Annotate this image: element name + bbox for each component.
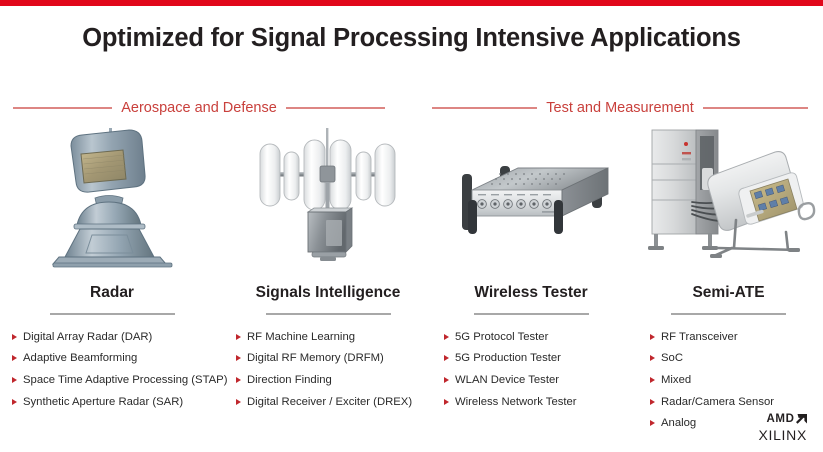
- list-item-label: Direction Finding: [247, 374, 332, 387]
- list-item: Digital RF Memory (DRFM): [236, 348, 434, 370]
- list-item: WLAN Device Tester: [444, 370, 626, 392]
- column-title-rule: [474, 313, 589, 315]
- feature-list-wireless-tester: 5G Protocol Tester 5G Production Tester …: [444, 327, 626, 413]
- list-item: Wireless Network Tester: [444, 391, 626, 413]
- list-item: Direction Finding: [236, 370, 434, 392]
- list-item-label: Digital Receiver / Exciter (DREX): [247, 396, 412, 409]
- category-column-semi-ate: Semi-ATE RF Transceiver SoC Mixed Radar/…: [636, 128, 821, 434]
- list-item: RF Machine Learning: [236, 327, 434, 349]
- list-item-label: Synthetic Aperture Radar (SAR): [23, 396, 183, 409]
- slide-canvas: Optimized for Signal Processing Intensiv…: [0, 0, 823, 452]
- category-column-wireless-tester: Wireless Tester 5G Protocol Tester 5G Pr…: [436, 128, 626, 413]
- triangle-bullet-icon: [236, 334, 241, 340]
- radar-dome-antenna-illustration: [8, 128, 216, 268]
- triangle-bullet-icon: [444, 377, 449, 383]
- antenna-array-illustration: [222, 128, 434, 268]
- triangle-bullet-icon: [650, 355, 655, 361]
- list-item-label: Adaptive Beamforming: [23, 352, 137, 365]
- list-item-label: SoC: [661, 352, 683, 365]
- list-item-label: Wireless Network Tester: [455, 396, 577, 409]
- column-title: Semi-ATE: [636, 285, 821, 301]
- triangle-bullet-icon: [444, 355, 449, 361]
- list-item-label: 5G Protocol Tester: [455, 331, 548, 344]
- triangle-bullet-icon: [650, 334, 655, 340]
- list-item: Synthetic Aperture Radar (SAR): [12, 391, 216, 413]
- category-column-radar: Radar Digital Array Radar (DAR) Adaptive…: [8, 128, 216, 413]
- triangle-bullet-icon: [444, 399, 449, 405]
- list-item: 5G Production Tester: [444, 348, 626, 370]
- amd-xilinx-logo: AMD XILINX: [758, 414, 807, 443]
- triangle-bullet-icon: [12, 355, 17, 361]
- list-item: Mixed: [650, 370, 821, 392]
- list-item-label: Space Time Adaptive Processing (STAP): [23, 374, 227, 387]
- list-item: SoC: [650, 348, 821, 370]
- list-item: Space Time Adaptive Processing (STAP): [12, 370, 216, 392]
- list-item-label: 5G Production Tester: [455, 352, 561, 365]
- triangle-bullet-icon: [444, 334, 449, 340]
- list-item: Digital Receiver / Exciter (DREX): [236, 391, 434, 413]
- section-header-test-and-measurement: Test and Measurement: [432, 99, 808, 117]
- xilinx-wordmark: XILINX: [758, 428, 807, 442]
- list-item: 5G Protocol Tester: [444, 327, 626, 349]
- section-header-aerospace-and-defense: Aerospace and Defense: [13, 99, 385, 117]
- feature-list-radar: Digital Array Radar (DAR) Adaptive Beamf…: [12, 327, 216, 413]
- section-rule-right: [703, 107, 808, 109]
- list-item: Digital Array Radar (DAR): [12, 327, 216, 349]
- list-item-label: RF Machine Learning: [247, 331, 355, 344]
- triangle-bullet-icon: [236, 399, 241, 405]
- list-item: Adaptive Beamforming: [12, 348, 216, 370]
- column-title-rule: [671, 313, 786, 315]
- triangle-bullet-icon: [12, 377, 17, 383]
- list-item-label: Radar/Camera Sensor: [661, 396, 774, 409]
- column-title-rule: [50, 313, 175, 315]
- column-title-rule: [266, 313, 391, 315]
- list-item-label: Mixed: [661, 374, 691, 387]
- top-accent-bar: [0, 0, 823, 6]
- semiconductor-test-handler-illustration: [636, 128, 821, 268]
- list-item: RF Transceiver: [650, 327, 821, 349]
- column-title: Signals Intelligence: [222, 285, 434, 301]
- list-item: Radar/Camera Sensor: [650, 391, 821, 413]
- amd-arrow-icon: [796, 414, 807, 425]
- triangle-bullet-icon: [236, 377, 241, 383]
- section-rule-left: [432, 107, 537, 109]
- triangle-bullet-icon: [236, 355, 241, 361]
- triangle-bullet-icon: [12, 334, 17, 340]
- triangle-bullet-icon: [650, 377, 655, 383]
- rack-mount-tester-illustration: [436, 128, 626, 268]
- list-item-label: Digital RF Memory (DRFM): [247, 352, 384, 365]
- section-rule-left: [13, 107, 112, 109]
- list-item-label: Digital Array Radar (DAR): [23, 331, 152, 344]
- section-label: Test and Measurement: [546, 101, 694, 116]
- list-item-label: Analog: [661, 417, 696, 430]
- amd-wordmark: AMD: [758, 414, 807, 426]
- triangle-bullet-icon: [650, 399, 655, 405]
- column-title: Radar: [8, 285, 216, 301]
- section-rule-right: [286, 107, 385, 109]
- page-title: Optimized for Signal Processing Intensiv…: [0, 24, 823, 53]
- list-item-label: WLAN Device Tester: [455, 374, 559, 387]
- section-label: Aerospace and Defense: [121, 101, 277, 116]
- list-item-label: RF Transceiver: [661, 331, 738, 344]
- feature-list-signals-intelligence: RF Machine Learning Digital RF Memory (D…: [236, 327, 434, 413]
- triangle-bullet-icon: [12, 399, 17, 405]
- column-title: Wireless Tester: [436, 285, 626, 301]
- category-column-signals-intelligence: Signals Intelligence RF Machine Learning…: [222, 128, 434, 413]
- triangle-bullet-icon: [650, 420, 655, 426]
- amd-label: AMD: [767, 414, 795, 426]
